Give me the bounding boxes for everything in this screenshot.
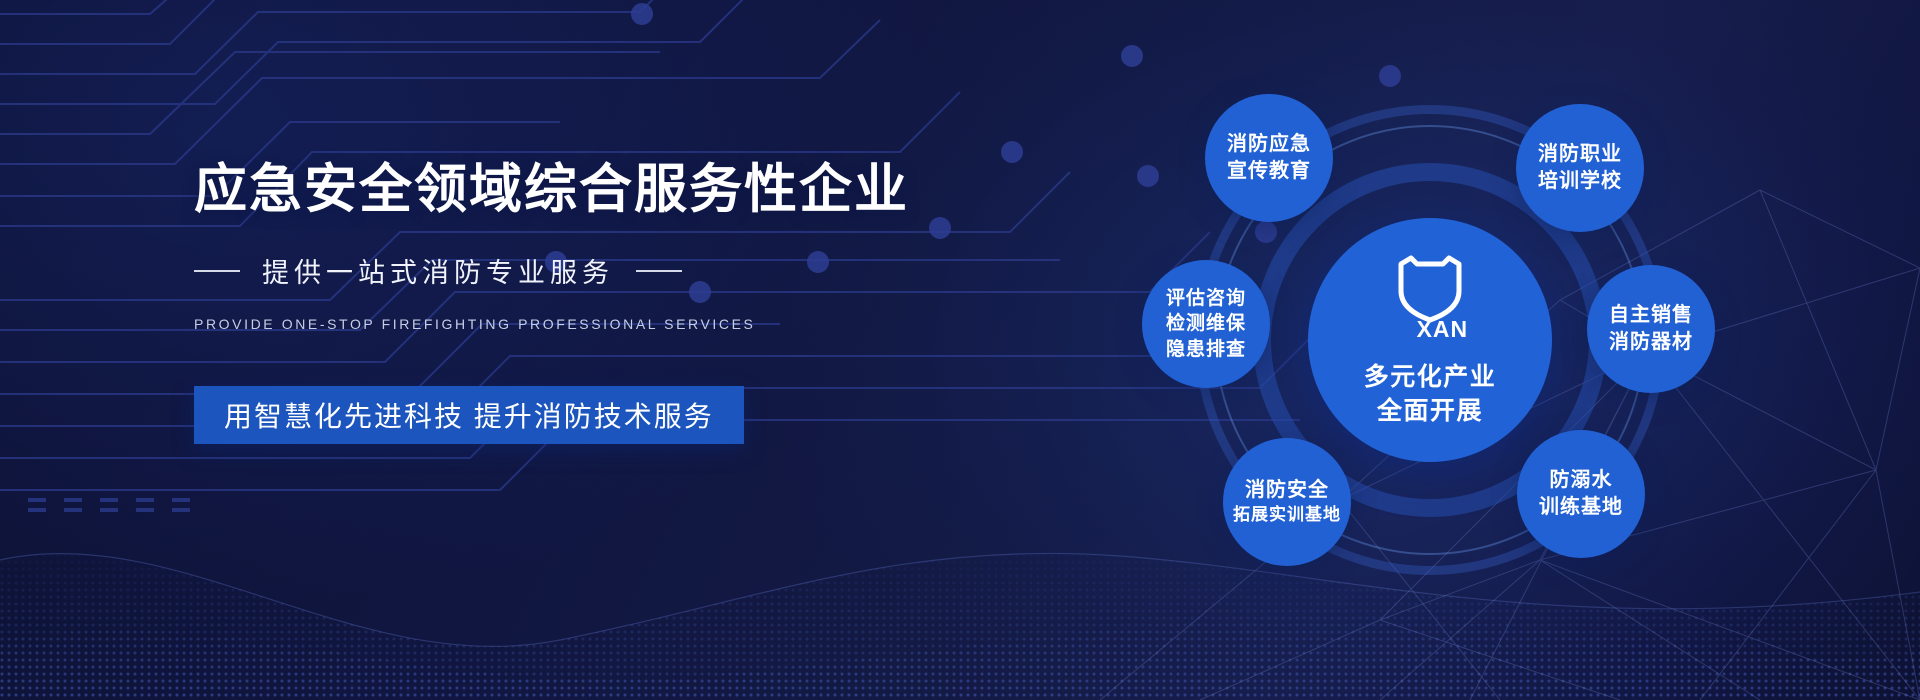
node-label-line2: 检测维保 (1166, 311, 1246, 337)
node-water-rescue-base[interactable]: 防溺水 训练基地 (1517, 430, 1645, 558)
rule-left-icon (194, 270, 240, 272)
node-label-line1: 消防应急 (1227, 131, 1311, 158)
node-fire-emergency-education[interactable]: 消防应急 宣传教育 (1205, 94, 1333, 222)
node-label-line1: 评估咨询 (1166, 286, 1246, 312)
node-label-line2: 培训学校 (1538, 168, 1622, 195)
cta-button[interactable]: 用智慧化先进科技 提升消防技术服务 (194, 386, 744, 444)
node-label-line1: 防溺水 (1550, 467, 1613, 494)
banner-stage: 应急安全领域综合服务性企业 提供一站式消防专业服务 PROVIDE ONE-ST… (0, 0, 1920, 700)
node-assessment-inspection[interactable]: 评估咨询 检测维保 隐患排查 (1142, 260, 1270, 388)
node-fire-vocational-school[interactable]: 消防职业 培训学校 (1516, 104, 1644, 232)
node-label-line2: 消防器材 (1609, 329, 1693, 356)
node-fire-safety-training-base[interactable]: 消防安全 拓展实训基地 (1223, 438, 1351, 566)
diagram-center-node[interactable]: XAN 多元化产业 全面开展 (1308, 218, 1552, 462)
node-label-line2: 宣传教育 (1227, 158, 1311, 185)
center-label-line2: 全面开展 (1377, 395, 1483, 429)
page-title: 应急安全领域综合服务性企业 (194, 160, 874, 219)
node-self-sales-equipment[interactable]: 自主销售 消防器材 (1587, 265, 1715, 393)
node-label-line2: 训练基地 (1539, 494, 1623, 521)
node-label-line1: 自主销售 (1609, 302, 1693, 329)
node-label-line1: 消防职业 (1538, 141, 1622, 168)
services-diagram: XAN 多元化产业 全面开展 消防应急 宣传教育 消防职业 培训学校 自主销售 … (1090, 60, 1790, 640)
logo-wordmark: XAN (1417, 314, 1469, 345)
subtitle-row: 提供一站式消防专业服务 (194, 251, 874, 290)
node-label-line1: 消防安全 (1245, 477, 1329, 504)
english-tagline: PROVIDE ONE-STOP FIREFIGHTING PROFESSION… (194, 316, 874, 332)
subtitle: 提供一站式消防专业服务 (262, 251, 614, 290)
center-label-line1: 多元化产业 (1364, 361, 1497, 395)
headline-block: 应急安全领域综合服务性企业 提供一站式消防专业服务 PROVIDE ONE-ST… (194, 160, 874, 444)
rule-right-icon (636, 270, 682, 272)
node-label-line3: 隐患排查 (1166, 337, 1246, 363)
node-label-line2: 拓展实训基地 (1233, 504, 1341, 527)
